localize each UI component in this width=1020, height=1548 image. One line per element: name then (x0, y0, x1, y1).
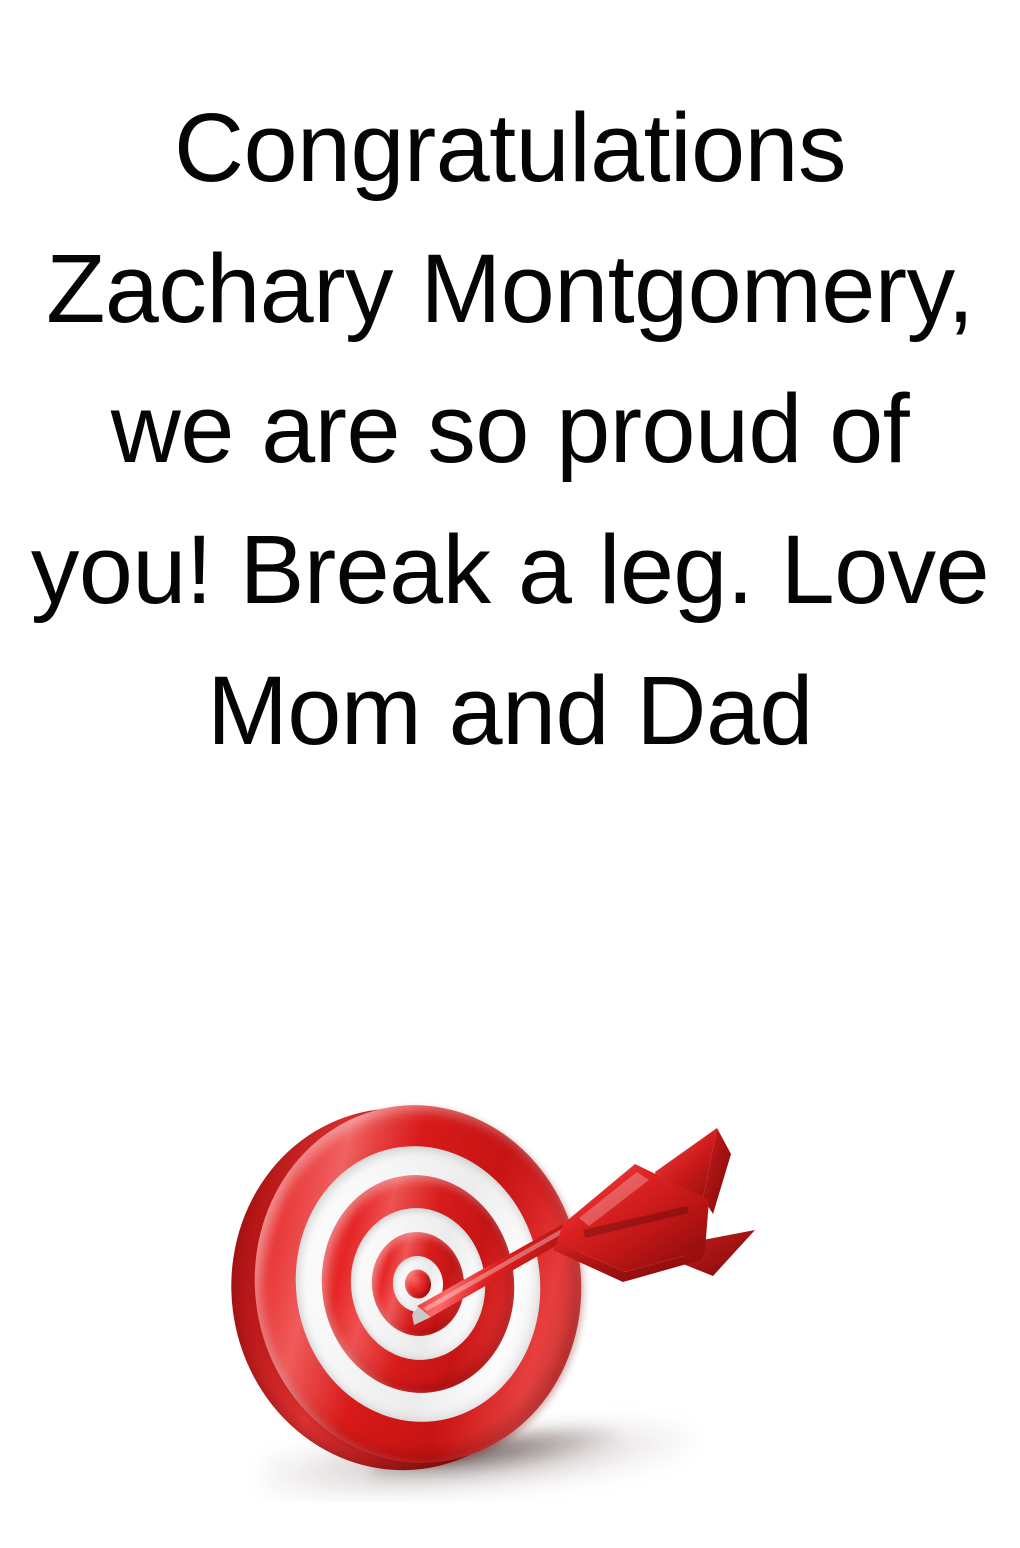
greeting-message-block: Congratulations Zachary Montgomery, we a… (0, 0, 1020, 781)
greeting-message-text: Congratulations Zachary Montgomery, we a… (14, 78, 1006, 781)
target-image-frame (155, 1080, 865, 1502)
dartboard (222, 1080, 615, 1490)
bullseye-target-illustration (155, 1080, 865, 1502)
